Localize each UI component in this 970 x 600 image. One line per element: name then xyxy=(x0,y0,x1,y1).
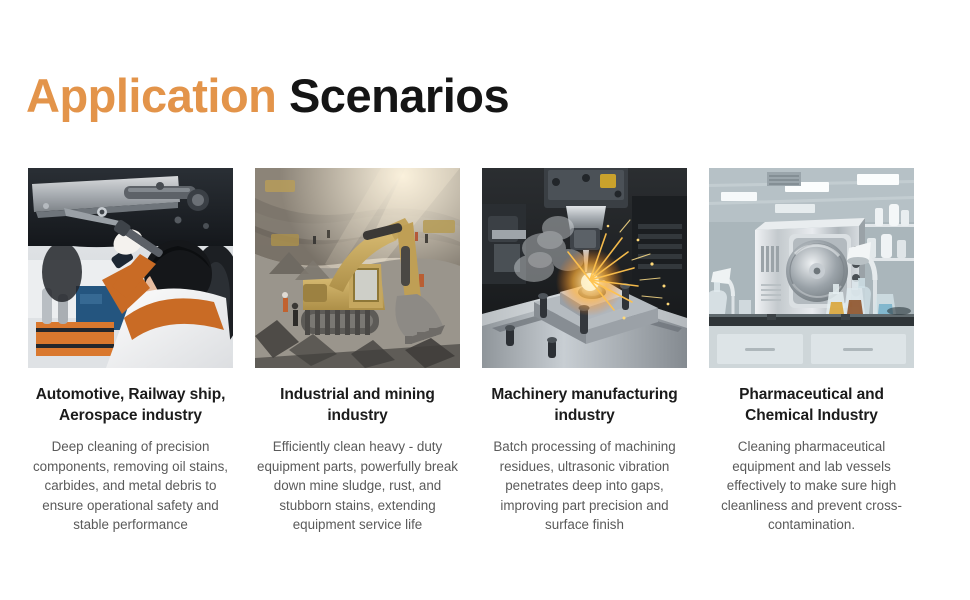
automotive-underbody-repair-photo xyxy=(28,168,233,368)
scenario-card: Pharmaceutical and Chemical Industry Cle… xyxy=(709,168,914,534)
scenario-card-body: Efficiently clean heavy - duty equipment… xyxy=(251,437,464,534)
scenario-card-list: Automotive, Railway ship, Aerospace indu… xyxy=(28,168,946,534)
scenario-card: Automotive, Railway ship, Aerospace indu… xyxy=(28,168,233,534)
scenario-card-heading: Industrial and mining industry xyxy=(255,385,460,426)
scenario-card-heading: Pharmaceutical and Chemical Industry xyxy=(709,385,914,426)
scenario-card: Industrial and mining industry Efficient… xyxy=(255,168,460,534)
scenario-card-heading: Automotive, Railway ship, Aerospace indu… xyxy=(28,385,233,426)
scenario-card-body: Deep cleaning of precision components, r… xyxy=(24,437,237,534)
cnc-milling-sparks-photo xyxy=(482,168,687,368)
mining-excavator-quarry-photo xyxy=(255,168,460,368)
scenario-card: Machinery manufacturing industry Batch p… xyxy=(482,168,687,534)
scenario-card-body: Cleaning pharmaceutical equipment and la… xyxy=(705,437,918,534)
scenario-card-heading: Machinery manufacturing industry xyxy=(482,385,687,426)
lab-autoclave-sterilizer-photo xyxy=(709,168,914,368)
scenario-card-body: Batch processing of machining residues, … xyxy=(478,437,691,534)
page-title-accent: Application xyxy=(26,69,276,122)
page-title: Application Scenarios xyxy=(26,71,509,120)
application-scenarios-page: Application Scenarios xyxy=(0,0,970,600)
page-title-main: Scenarios xyxy=(289,69,509,122)
